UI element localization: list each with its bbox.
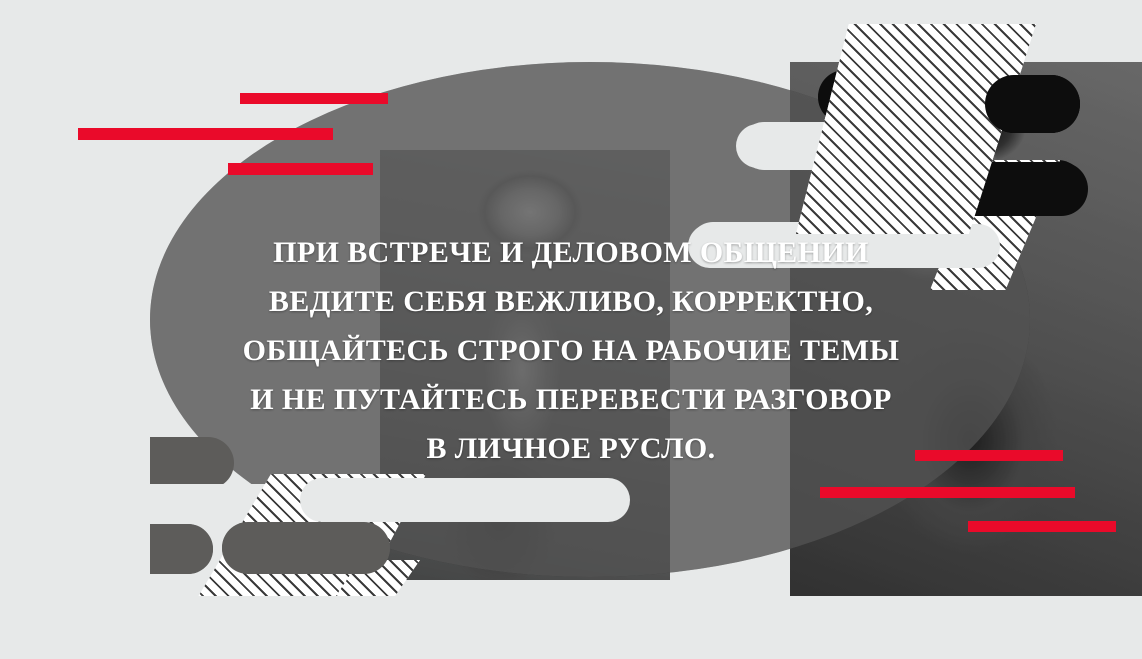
red-bar-bottom-2: [820, 487, 1075, 498]
red-bar-bottom-3: [968, 521, 1116, 532]
poster-canvas: ПРИ ВСТРЕЧЕ И ДЕЛОВОМ ОБЩЕНИИ ВЕДИТЕ СЕБ…: [0, 0, 1142, 659]
left-background-gutter: [0, 0, 150, 659]
pill-grey-mid-lower-front: [222, 522, 390, 574]
red-bar-top-1: [240, 93, 388, 104]
red-bar-bottom-1: [915, 450, 1063, 461]
red-bar-top-2: [78, 128, 333, 140]
bottom-background-sweep: [0, 596, 1142, 659]
red-bar-top-3: [228, 163, 373, 175]
pill-band-left-mid-front: [300, 478, 630, 522]
pill-black-right-top-top: [985, 75, 1080, 133]
